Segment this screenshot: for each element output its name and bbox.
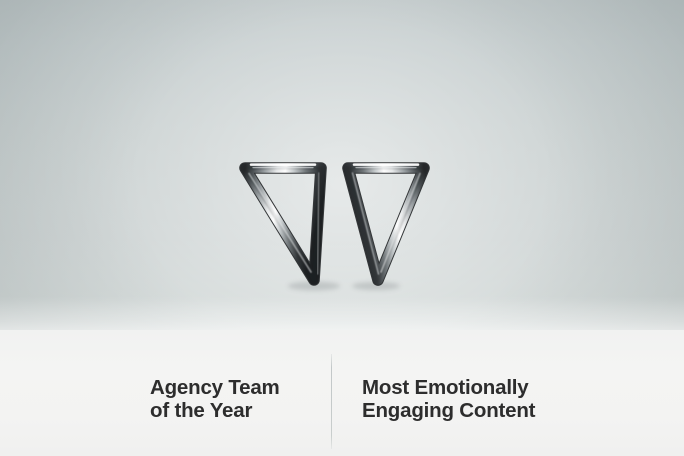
award-title-most-emotionally-engaging-content: Most Emotionally Engaging Content bbox=[362, 376, 535, 422]
award-title-agency-team-of-the-year: Agency Team of the Year bbox=[150, 376, 280, 422]
caption-divider bbox=[331, 354, 332, 449]
caption-band: Agency Team of the Year Most Emotionally… bbox=[0, 352, 684, 456]
award-title-card: Agency Team of the Year Most Emotionally… bbox=[0, 0, 684, 456]
